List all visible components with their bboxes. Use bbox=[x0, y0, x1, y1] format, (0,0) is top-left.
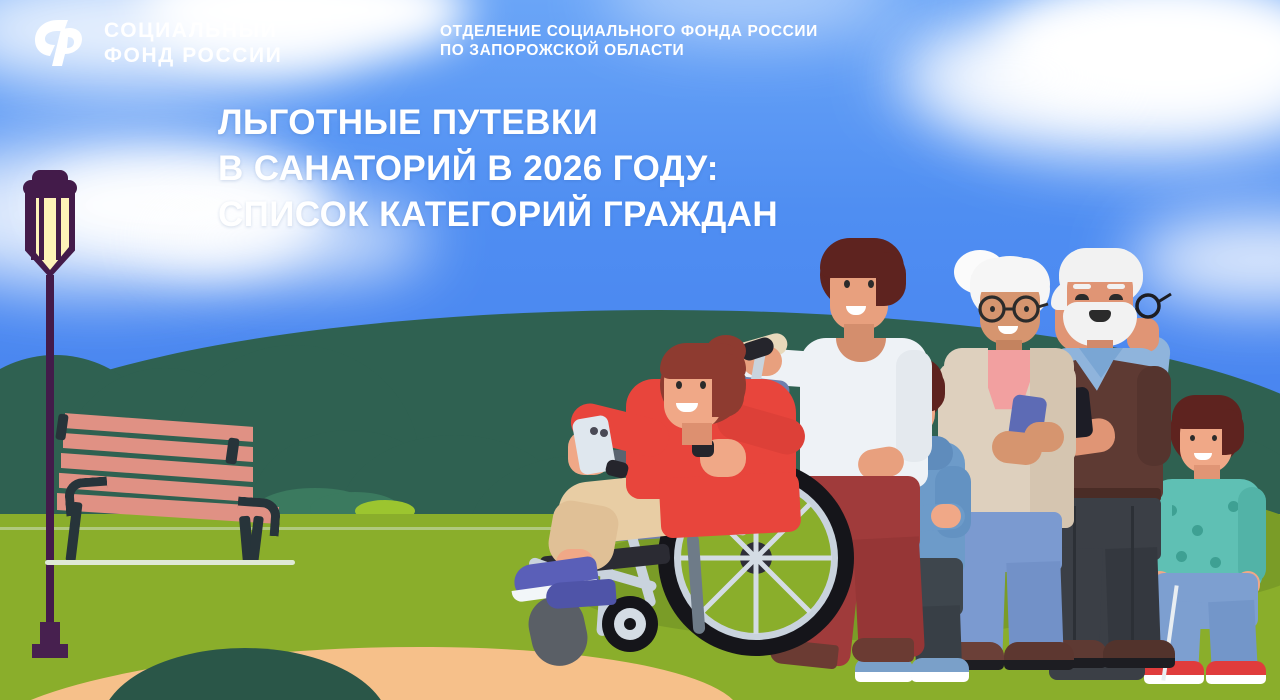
sfr-monogram-logo-icon bbox=[28, 14, 90, 72]
phone-camera-icon bbox=[590, 427, 598, 435]
granny-hand bbox=[1024, 422, 1064, 452]
grandpa-eyebrow bbox=[1107, 284, 1125, 289]
headline-title: ЛЬГОТНЫЕ ПУТЕВКИ В САНАТОРИЙ В 2026 ГОДУ… bbox=[218, 100, 958, 238]
grandpa-arm bbox=[1137, 366, 1171, 466]
phone-camera-icon bbox=[600, 429, 608, 437]
organization-line: ОТДЕЛЕНИЕ СОЦИАЛЬНОГО ФОНДА РОССИИ ПО ЗА… bbox=[440, 22, 960, 60]
wc-woman-hair-side bbox=[712, 353, 744, 417]
caregiver-eye bbox=[844, 280, 850, 288]
granny-hair-front bbox=[970, 258, 1050, 292]
child-shoe-sole bbox=[1206, 675, 1266, 684]
grandpa-eye bbox=[1109, 294, 1123, 300]
wc-woman-eye bbox=[676, 381, 682, 389]
caregiver-hair-side bbox=[876, 252, 906, 306]
park-bench bbox=[55, 418, 285, 568]
banner-image: СОЦИАЛЬНЫЙ ФОНД РОССИИ ОТДЕЛЕНИЕ СОЦИАЛЬ… bbox=[0, 0, 1280, 700]
logo-block: СОЦИАЛЬНЫЙ ФОНД РОССИИ bbox=[28, 14, 282, 72]
caregiver-eye bbox=[868, 280, 874, 288]
child-hair-side bbox=[1222, 409, 1244, 455]
bench-shadow bbox=[45, 560, 295, 565]
woman-in-wheelchair bbox=[540, 335, 870, 635]
lamp-mullion bbox=[39, 198, 44, 260]
lamp-pole bbox=[46, 275, 54, 630]
lamp-mullion bbox=[56, 198, 61, 260]
caregiver-arm-right bbox=[896, 350, 932, 462]
lamp-base bbox=[32, 644, 68, 658]
wc-woman-sweater-hem bbox=[659, 471, 802, 538]
wc-woman-eye bbox=[700, 381, 706, 389]
trouser-crease bbox=[1131, 506, 1134, 652]
shoe-sole bbox=[1103, 658, 1175, 668]
shoe-sole bbox=[1004, 660, 1074, 670]
logo-text: СОЦИАЛЬНЫЙ ФОНД РОССИИ bbox=[104, 18, 282, 68]
child-arm bbox=[1238, 487, 1266, 583]
lamp-mullion bbox=[31, 198, 36, 260]
granny-eye bbox=[1024, 306, 1029, 312]
granny-eye bbox=[990, 306, 995, 312]
wc-woman-sneaker bbox=[545, 579, 617, 610]
eyeglasses-icon bbox=[974, 294, 1050, 324]
wc-woman-neck bbox=[682, 423, 712, 445]
